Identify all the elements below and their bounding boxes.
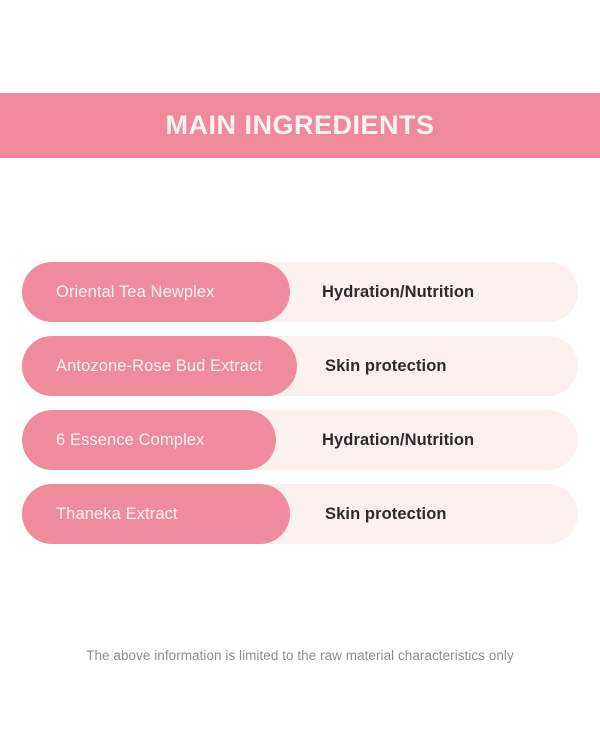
ingredient-benefit: Hydration/Nutrition bbox=[322, 262, 474, 322]
table-row: Antozone-Rose Bud Extract Skin protectio… bbox=[22, 336, 578, 396]
ingredient-benefit: Skin protection bbox=[325, 336, 447, 396]
header-banner: MAIN INGREDIENTS bbox=[0, 93, 600, 158]
ingredients-infographic: MAIN INGREDIENTS Oriental Tea Newplex Hy… bbox=[0, 0, 600, 750]
table-row: Oriental Tea Newplex Hydration/Nutrition bbox=[22, 262, 578, 322]
table-row: Thaneka Extract Skin protection bbox=[22, 484, 578, 544]
ingredients-table: Oriental Tea Newplex Hydration/Nutrition… bbox=[22, 262, 578, 544]
ingredient-pill: Thaneka Extract bbox=[22, 484, 290, 544]
ingredient-pill: Antozone-Rose Bud Extract bbox=[22, 336, 297, 396]
table-row: 6 Essence Complex Hydration/Nutrition bbox=[22, 410, 578, 470]
ingredient-benefit: Skin protection bbox=[325, 484, 447, 544]
ingredient-pill: 6 Essence Complex bbox=[22, 410, 276, 470]
ingredient-name: Thaneka Extract bbox=[22, 505, 178, 524]
ingredient-pill: Oriental Tea Newplex bbox=[22, 262, 290, 322]
footer-disclaimer: The above information is limited to the … bbox=[0, 648, 600, 663]
ingredient-benefit: Hydration/Nutrition bbox=[322, 410, 474, 470]
ingredient-name: Oriental Tea Newplex bbox=[22, 283, 215, 302]
ingredient-name: 6 Essence Complex bbox=[22, 431, 204, 450]
ingredient-name: Antozone-Rose Bud Extract bbox=[22, 357, 262, 376]
page-title: MAIN INGREDIENTS bbox=[165, 110, 434, 141]
